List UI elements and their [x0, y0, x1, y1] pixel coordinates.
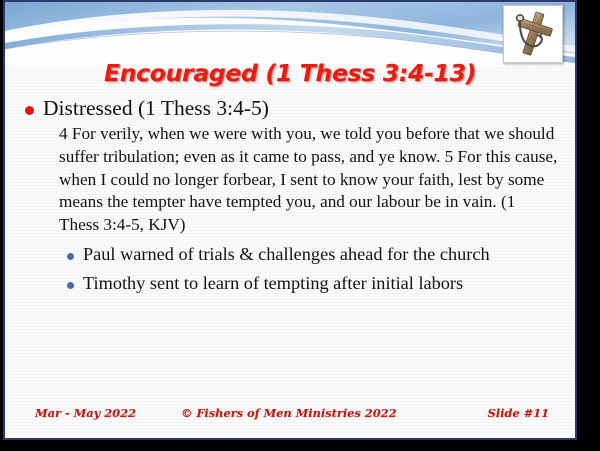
list-item: Paul warned of trials & challenges ahead… — [67, 244, 561, 266]
header-wave-decoration — [5, 2, 575, 66]
sub-bullet-label: Timothy sent to learn of tempting after … — [83, 273, 463, 295]
list-item: Timothy sent to learn of tempting after … — [67, 273, 561, 295]
page-title: Encouraged (1 Thess 3:4-13) — [5, 59, 575, 87]
footer-copyright: © Fishers of Men Ministries 2022 — [136, 406, 488, 420]
sub-bullet-label: Paul warned of trials & challenges ahead… — [83, 244, 490, 266]
sub-bullet-marker-icon — [67, 282, 74, 289]
footer-slide-number: Slide #11 — [488, 406, 549, 420]
bullet-label: Distressed (1 Thess 3:4-5) — [43, 96, 269, 120]
bullet-item-distressed: Distressed (1 Thess 3:4-5) — [25, 96, 561, 120]
scripture-passage: 4 For verily, when we were with you, we … — [59, 123, 559, 237]
slide-body: Distressed (1 Thess 3:4-5) 4 For verily,… — [5, 96, 575, 294]
bullet-marker-icon — [25, 106, 34, 115]
cross-and-fishhook-logo — [503, 5, 563, 63]
slide-footer: Mar - May 2022 © Fishers of Men Ministri… — [5, 406, 575, 420]
presentation-slide: Encouraged (1 Thess 3:4-13) Distressed (… — [3, 0, 577, 440]
slide-stage: Encouraged (1 Thess 3:4-13) Distressed (… — [0, 0, 600, 451]
sub-bullet-list: Paul warned of trials & challenges ahead… — [67, 244, 561, 294]
sub-bullet-marker-icon — [67, 253, 74, 260]
footer-date: Mar - May 2022 — [35, 406, 136, 420]
